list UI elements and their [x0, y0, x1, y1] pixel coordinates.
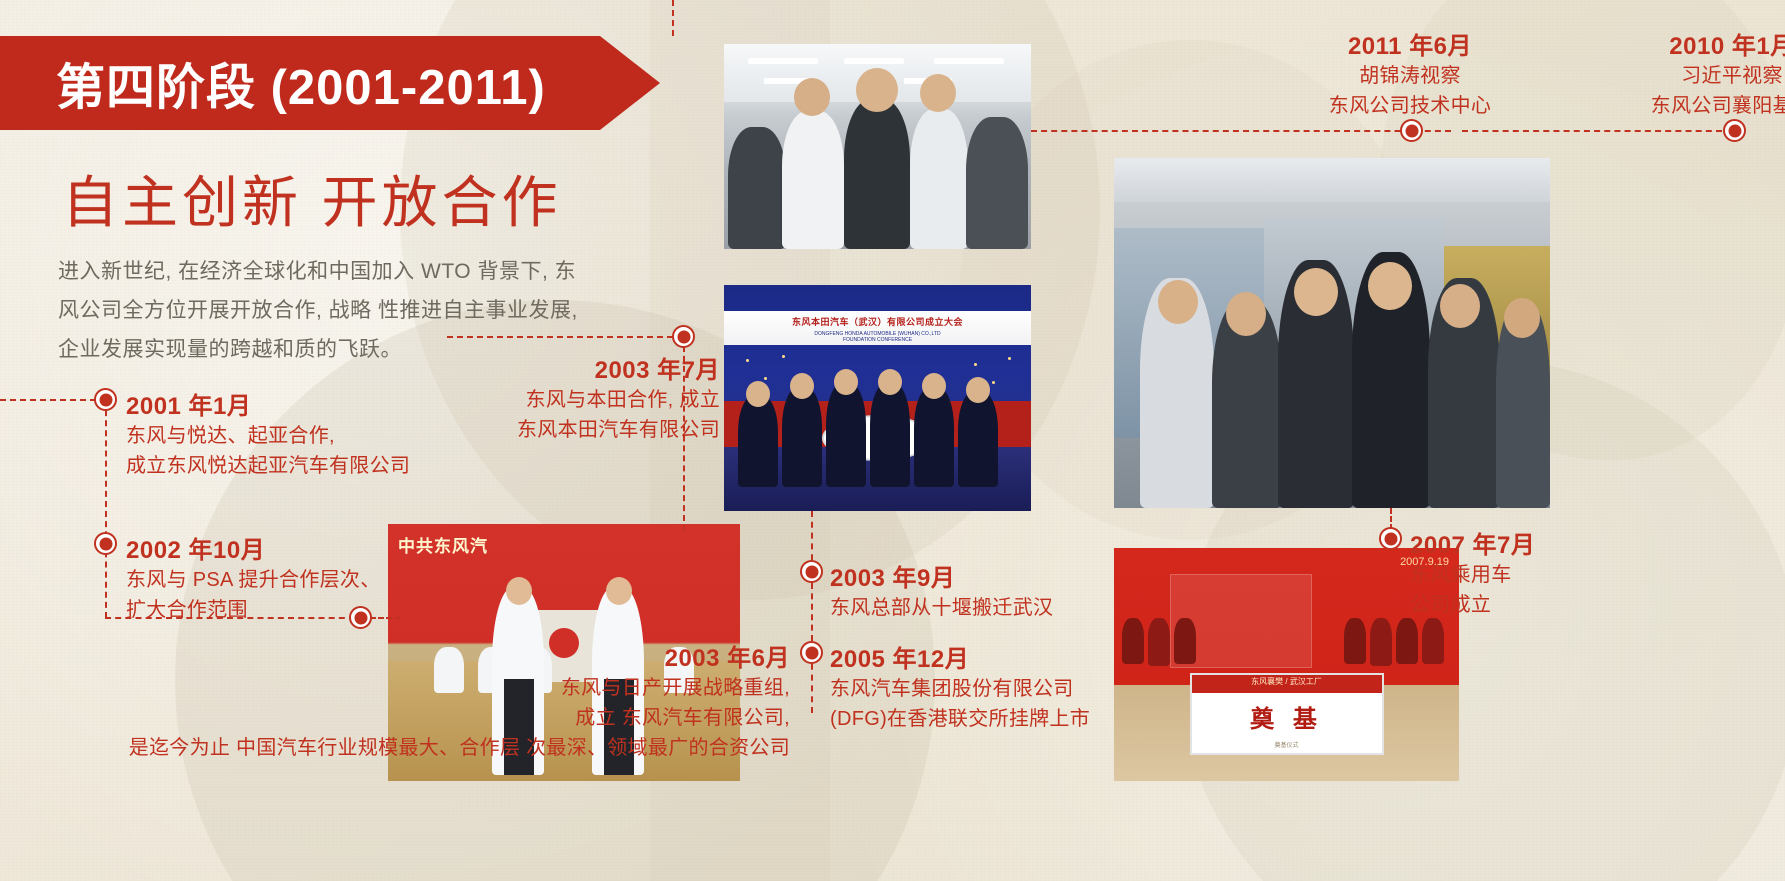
event-2011: 2011 年6月 胡锦涛视察 东风公司技术中心 [1230, 26, 1590, 121]
event-2003-09-date: 2003 年9月 [830, 558, 1053, 593]
event-2003-07-date: 2003 年7月 [330, 350, 720, 385]
infographic-poster: 第四阶段 (2001-2011) 自主创新 开放合作 进入新世纪, 在经济全球化… [0, 0, 1785, 881]
connector-left-spine [105, 400, 107, 618]
timeline-node-2003-9[interactable] [800, 560, 823, 583]
event-2007-line-1: 东风乘用车 [1410, 560, 1535, 590]
honda-banner-subtitle-2: FOUNDATION CONFERENCE [753, 337, 1003, 343]
plinth-top-text: 东风襄樊 / 武汉工厂 [1192, 676, 1382, 687]
photo-groundbreaking-2007: 2007.9.19 东风襄樊 / 武汉工厂 奠 基 奠基仪式 [1114, 548, 1459, 781]
timeline-node-2001[interactable] [94, 388, 117, 411]
event-2003-06-date: 2003 年6月 [0, 638, 790, 673]
event-2003-09-line-1: 东风总部从十堰搬迁武汉 [830, 593, 1053, 623]
connector-top-rail-1 [1031, 130, 1451, 132]
page-title: 第四阶段 (2001-2011) [0, 48, 546, 119]
intro-line-2: 风公司全方位开展开放合作, 战略 性推进自主事业发展, [58, 291, 668, 330]
party-banner-text: 中共东风汽 [398, 532, 488, 557]
event-2003-06: 2003 年6月 东风与日产开展战略重组, 成立 东风汽车有限公司, 是迄今为止… [0, 638, 790, 763]
event-2005-line-1: 东风汽车集团股份有限公司 [830, 674, 1090, 704]
timeline-node-2011[interactable] [1400, 119, 1423, 142]
photo-hu-jintao-visit [724, 44, 1031, 249]
event-2010-line-2: 东风公司襄阳基地 [1552, 91, 1785, 121]
stage-banner: 第四阶段 (2001-2011) [0, 36, 660, 130]
timeline-node-2005[interactable] [800, 641, 823, 664]
event-2005-line-2: (DFG)在香港联交所挂牌上市 [830, 704, 1090, 734]
event-2011-date: 2011 年6月 [1230, 26, 1590, 61]
connector-left-entry [0, 399, 96, 401]
timeline-node-2003-7[interactable] [672, 325, 695, 348]
event-2002: 2002 年10月 东风与 PSA 提升合作层次、 扩大合作范围 [126, 530, 381, 625]
timeline-node-2002[interactable] [94, 532, 117, 555]
photo-xi-jinping-visit [1114, 158, 1550, 508]
event-2011-line-2: 东风公司技术中心 [1230, 91, 1590, 121]
event-2001-line-2: 成立东风悦达起亚汽车有限公司 [126, 451, 410, 481]
connector-top-vertical [672, 0, 674, 36]
event-2005: 2005 年12月 东风汽车集团股份有限公司 (DFG)在香港联交所挂牌上市 [830, 639, 1090, 734]
event-2007: 2007 年7月 东风乘用车 公司成立 [1410, 525, 1535, 620]
plinth-main-text: 奠 基 [1192, 699, 1382, 734]
timeline-node-2003-6[interactable] [349, 606, 372, 629]
event-2010-date: 2010 年1月 [1552, 26, 1785, 61]
event-2003-06-line-3: 是迄今为止 中国汽车行业规模最大、合作层 次最深、领域最广的合资公司 [0, 733, 790, 763]
intro-line-1: 进入新世纪, 在经济全球化和中国加入 WTO 背景下, 东 [58, 252, 668, 291]
timeline-node-2010[interactable] [1723, 119, 1746, 142]
connector-top-rail-2 [1462, 130, 1722, 132]
subtitle: 自主创新 开放合作 [62, 158, 562, 239]
connector-mid-spine-mid [811, 583, 813, 641]
honda-banner-title: 东风本田汽车（武汉）有限公司成立大会 [753, 315, 1003, 328]
event-2007-line-2: 公司成立 [1410, 590, 1535, 620]
timeline-node-2007[interactable] [1379, 527, 1402, 550]
event-2010: 2010 年1月 习近平视察 东风公司襄阳基地 [1552, 26, 1785, 121]
event-2003-09: 2003 年9月 东风总部从十堰搬迁武汉 [830, 558, 1053, 623]
event-2003-06-line-1: 东风与日产开展战略重组, [0, 673, 790, 703]
photo-dongfeng-honda-conference: 东风本田汽车（武汉）有限公司成立大会 DONGFENG HONDA AUTOMO… [724, 285, 1031, 511]
event-2010-line-1: 习近平视察 [1552, 61, 1785, 91]
event-2001-line-1: 东风与悦达、起亚合作, [126, 421, 410, 451]
event-2002-date: 2002 年10月 [126, 530, 381, 565]
event-2007-date: 2007 年7月 [1410, 525, 1535, 560]
event-2002-line-1: 东风与 PSA 提升合作层次、 [126, 565, 381, 595]
event-2003-06-line-2: 成立 东风汽车有限公司, [0, 703, 790, 733]
event-2001-date: 2001 年1月 [126, 386, 410, 421]
event-2001: 2001 年1月 东风与悦达、起亚合作, 成立东风悦达起亚汽车有限公司 [126, 386, 410, 481]
event-2002-line-2: 扩大合作范围 [126, 595, 381, 625]
event-2005-date: 2005 年12月 [830, 639, 1090, 674]
event-2011-line-1: 胡锦涛视察 [1230, 61, 1590, 91]
